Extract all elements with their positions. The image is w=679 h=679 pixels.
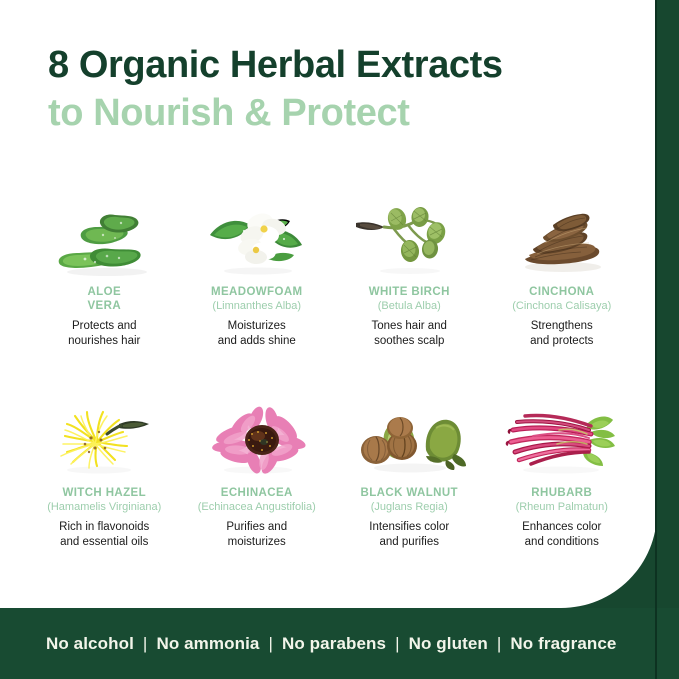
title-line-1: 8 Organic Herbal Extracts: [48, 44, 628, 88]
extract-latin-name: (Rheum Palmatun): [516, 501, 608, 515]
extract-name: BLACK WALNUT: [361, 486, 458, 500]
claim-separator: |: [143, 634, 148, 654]
poster-root: No alcohol | No ammonia | No parabens | …: [0, 0, 679, 679]
extract-name: ECHINACEA: [221, 486, 293, 500]
extract-card-echinacea: ECHINACEA (Echinacea Angustifolia) Purif…: [181, 394, 334, 551]
extract-description: Intensifies color and purifies: [369, 520, 449, 551]
extract-card-rhubarb: RHUBARB (Rheum Palmatun) Enhances color …: [486, 394, 639, 551]
extract-card-meadowfoam: MEADOWFOAM (Limnanthes Alba) Moisturizes…: [181, 193, 334, 350]
extract-description: Rich in flavonoids and essential oils: [59, 520, 149, 551]
claim-separator: |: [268, 634, 273, 654]
rhubarb-stalks-icon: [503, 394, 621, 480]
extract-name: MEADOWFOAM: [211, 285, 303, 299]
claim-item: No fragrance: [510, 634, 616, 654]
witch-hazel-flower-icon: [45, 394, 163, 480]
extract-latin-name: (Cinchona Calisaya): [512, 300, 611, 314]
claims-list: No alcohol | No ammonia | No parabens | …: [46, 634, 617, 654]
extract-description: Moisturizes and adds shine: [218, 319, 296, 350]
extract-name: RHUBARB: [531, 486, 592, 500]
echinacea-flower-icon: [198, 394, 316, 480]
extract-card-cinchona: CINCHONA (Cinchona Calisaya) Strengthens…: [486, 193, 639, 350]
meadowfoam-flower-icon: [198, 193, 316, 279]
claim-item: No parabens: [282, 634, 386, 654]
white-birch-catkins-icon: [350, 193, 468, 279]
claim-separator: |: [395, 634, 400, 654]
page-title: 8 Organic Herbal Extracts to Nourish & P…: [48, 44, 628, 135]
cinchona-bark-icon: [503, 193, 621, 279]
black-walnut-nuts-icon: [350, 394, 468, 480]
extract-description: Enhances color and conditions: [522, 520, 601, 551]
extract-description: Strengthens and protects: [530, 319, 593, 350]
extract-description: Purifies and moisturizes: [226, 520, 287, 551]
claim-item: No gluten: [409, 634, 488, 654]
extract-description: Tones hair and soothes scalp: [372, 319, 447, 350]
extract-card-white-birch: WHITE BIRCH (Betula Alba) Tones hair and…: [333, 193, 486, 350]
extract-card-witch-hazel: WITCH HAZEL (Hamamelis Virginiana) Rich …: [28, 394, 181, 551]
extract-latin-name: (Limnanthes Alba): [212, 300, 301, 314]
claim-item: No ammonia: [156, 634, 259, 654]
extract-name: WITCH HAZEL: [62, 486, 146, 500]
extract-latin-name: (Juglans Regia): [371, 501, 448, 515]
claim-separator: |: [497, 634, 502, 654]
extract-name: CINCHONA: [529, 285, 594, 299]
extract-name: ALOE VERA: [87, 285, 121, 313]
extract-card-aloe-vera: ALOE VERA Protects and nourishes hair: [28, 193, 181, 350]
extract-name: WHITE BIRCH: [369, 285, 450, 299]
claim-item: No alcohol: [46, 634, 134, 654]
aloe-vera-leaves-icon: [45, 193, 163, 279]
title-line-2: to Nourish & Protect: [48, 92, 628, 136]
right-edge-seam: [655, 0, 657, 679]
extracts-grid: ALOE VERA Protects and nourishes hair: [28, 193, 638, 550]
claims-banner: No alcohol | No ammonia | No parabens | …: [0, 608, 679, 679]
extract-latin-name: (Echinacea Angustifolia): [198, 501, 316, 515]
extract-latin-name: (Betula Alba): [378, 300, 441, 314]
extract-latin-name: (Hamamelis Virginiana): [47, 501, 161, 515]
extract-card-black-walnut: BLACK WALNUT (Juglans Regia) Intensifies…: [333, 394, 486, 551]
extract-description: Protects and nourishes hair: [68, 319, 140, 350]
